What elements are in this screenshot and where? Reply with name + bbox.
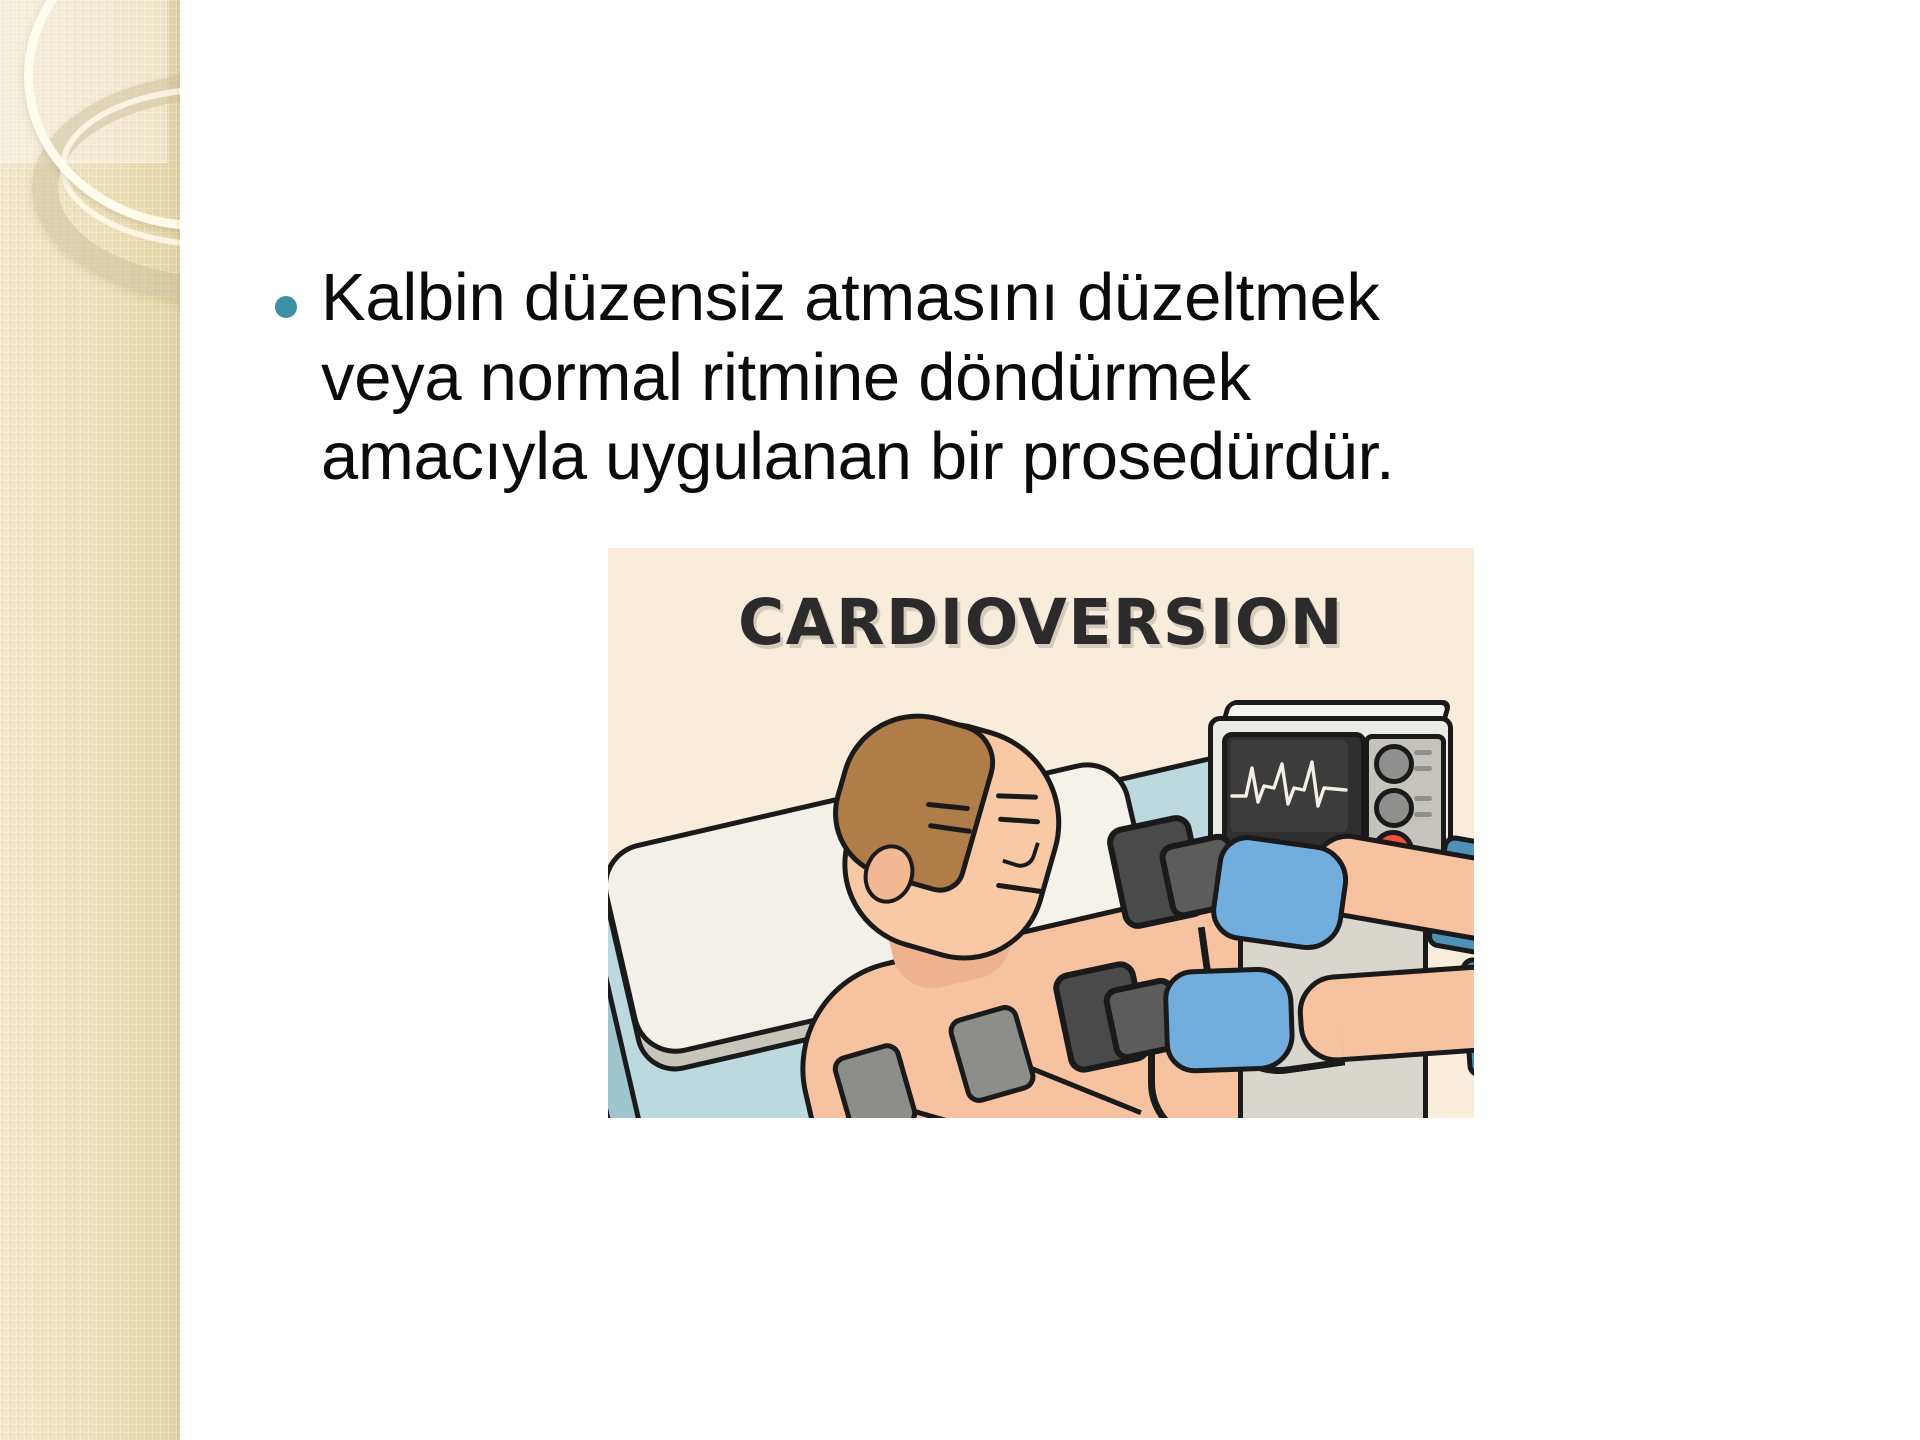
bullet-list: Kalbin düzensiz atmasını düzeltmek veya … bbox=[275, 258, 1485, 497]
bullet-item-text: Kalbin düzensiz atmasını düzeltmek veya … bbox=[321, 258, 1485, 497]
slide-content-area: Kalbin düzensiz atmasını düzeltmek veya … bbox=[180, 0, 1920, 1440]
defibrillator-tick-1 bbox=[1414, 750, 1432, 755]
presentation-slide: Kalbin düzensiz atmasını düzeltmek veya … bbox=[0, 0, 1920, 1440]
illustration-title: CARDIOVERSION bbox=[608, 586, 1474, 659]
ecg-monitor-screen bbox=[1230, 740, 1348, 832]
defibrillator-tick-4 bbox=[1414, 812, 1432, 817]
clinician-glove-upper bbox=[1207, 831, 1352, 954]
slide-decorative-sidebar bbox=[0, 0, 180, 1440]
defibrillator-tick-3 bbox=[1414, 796, 1432, 801]
cardioversion-illustration: CARDIOVERSION bbox=[608, 548, 1474, 1118]
defibrillator-knob-2 bbox=[1374, 788, 1414, 828]
defibrillator-knob-1 bbox=[1374, 744, 1414, 784]
defibrillator-tick-2 bbox=[1414, 766, 1432, 771]
list-item: Kalbin düzensiz atmasını düzeltmek veya … bbox=[275, 258, 1485, 497]
ecg-waveform-icon bbox=[1230, 740, 1348, 832]
bullet-dot-icon bbox=[275, 296, 297, 318]
sidebar-texture-pattern bbox=[0, 0, 180, 1440]
clinician-glove-lower bbox=[1162, 966, 1296, 1074]
sidebar-light-wash-rectangle bbox=[0, 0, 167, 163]
